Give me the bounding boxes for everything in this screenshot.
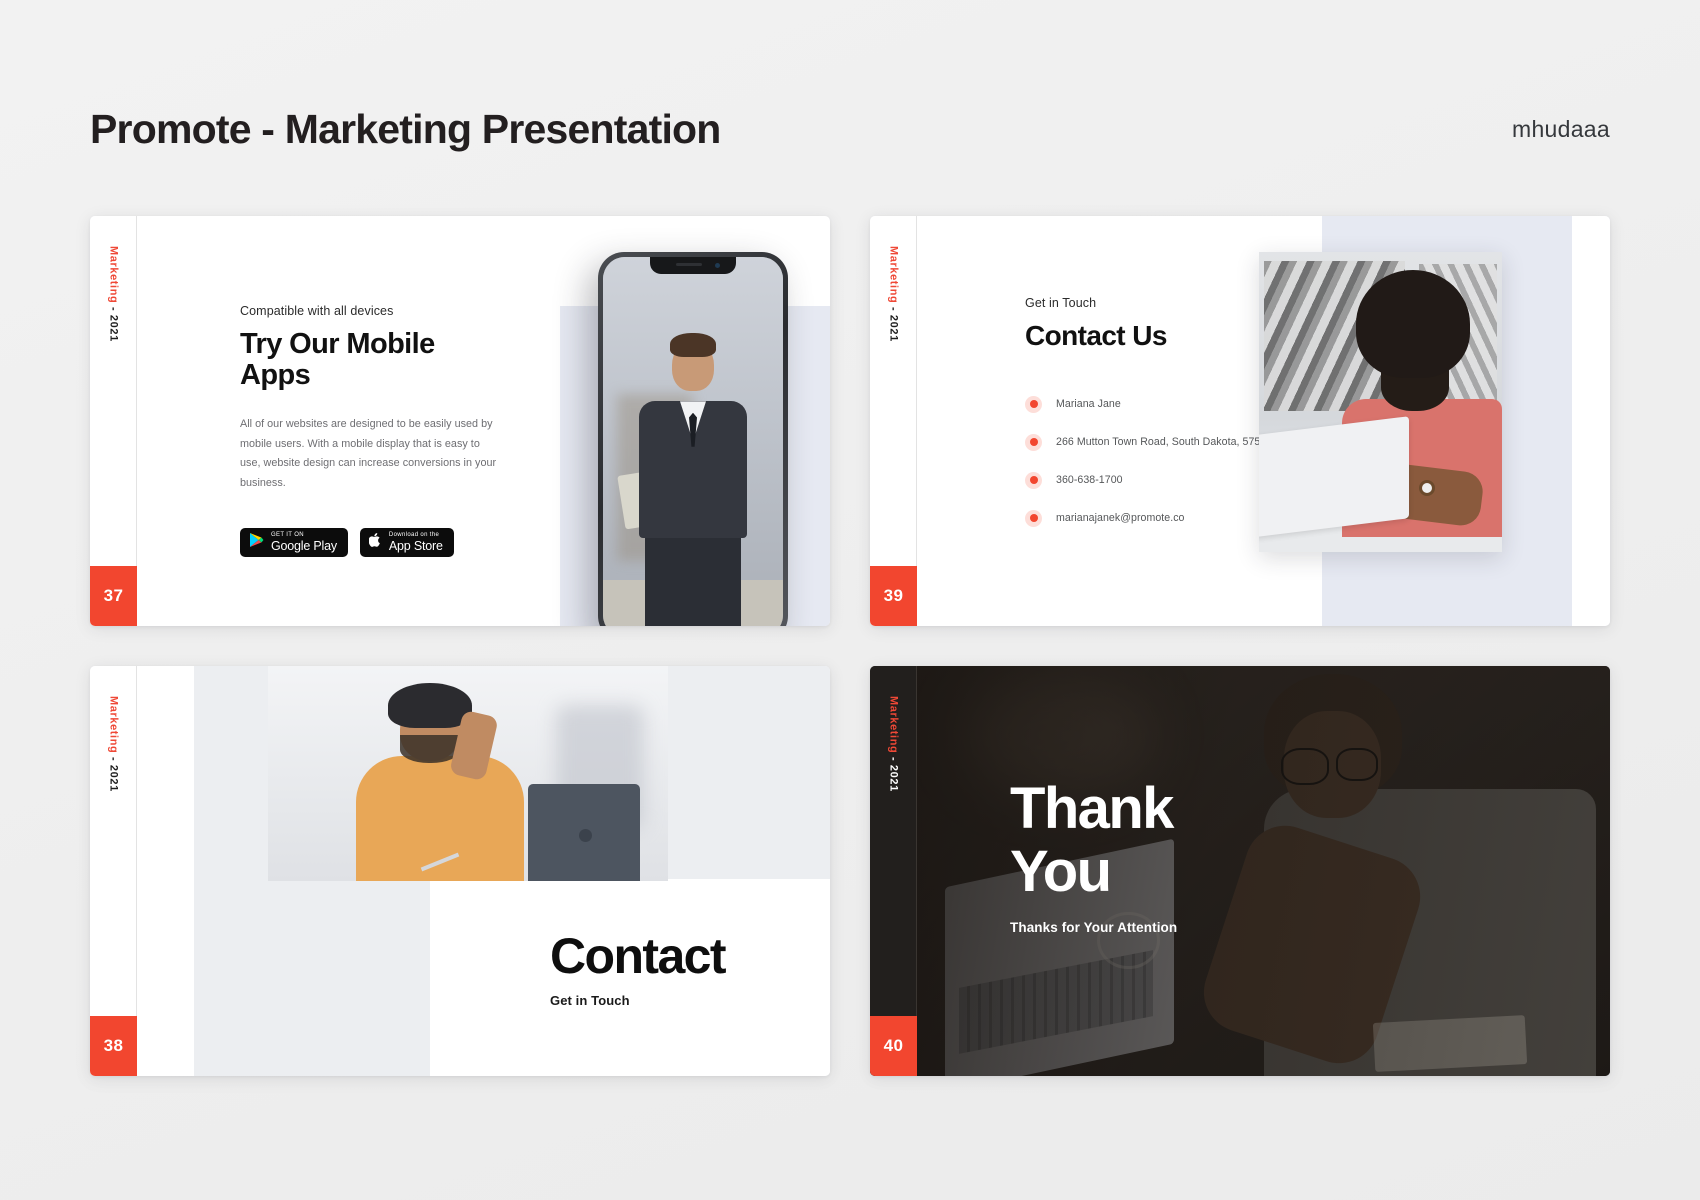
rail-brand-text: Marketing xyxy=(888,696,900,753)
rail-year-text: - 2021 xyxy=(108,303,120,341)
rail-year-text: - 2021 xyxy=(888,303,900,341)
slide37-phone-mockup xyxy=(598,252,788,626)
app-store-badge-text: Download on the App Store xyxy=(389,532,443,553)
slide39-side-rail: Marketing - 2021 39 xyxy=(870,216,917,626)
phone-speaker-icon xyxy=(676,263,702,266)
slide38-photo xyxy=(268,666,668,881)
page-header: Promote - Marketing Presentation mhudaaa xyxy=(90,96,1610,162)
slide38-page-number: 38 xyxy=(90,1016,137,1076)
slide37-body-text: All of our websites are designed to be e… xyxy=(240,415,500,494)
slide37-headline: Try Our Mobile Apps xyxy=(240,329,500,391)
slide39-photo xyxy=(1259,252,1502,552)
google-play-icon xyxy=(249,532,264,553)
slide37-page-number: 37 xyxy=(90,566,137,626)
slide40-title-line2: You xyxy=(1010,841,1177,904)
slide38-rail-label: Marketing - 2021 xyxy=(90,696,137,792)
slide37-side-rail: Marketing - 2021 37 xyxy=(90,216,137,626)
app-store-badge[interactable]: Download on the App Store xyxy=(360,528,454,557)
slide-thumbnail-39[interactable]: Marketing - 2021 39 Get in Touch Contact… xyxy=(870,216,1610,626)
author-name: mhudaaa xyxy=(1512,116,1610,143)
slide-thumbnail-40[interactable]: Marketing - 2021 40 Thank You Thanks for… xyxy=(870,666,1610,1076)
slide37-store-badges: GET IT ON Google Play Download on xyxy=(240,528,500,557)
slide37-rail-label: Marketing - 2021 xyxy=(90,246,137,342)
photo-person-hair xyxy=(1356,270,1470,378)
phone-photo-hair xyxy=(670,333,716,357)
slide-grid: Marketing - 2021 37 Compatible with all … xyxy=(90,216,1610,1076)
photo-person-beard xyxy=(400,735,460,763)
slide40-side-rail: Marketing - 2021 40 xyxy=(870,666,917,1076)
presentation-preview-page: Promote - Marketing Presentation mhudaaa… xyxy=(0,0,1700,1200)
contact-name-text: Mariana Jane xyxy=(1056,398,1121,410)
slide38-left-white-strip xyxy=(137,666,194,1076)
slide37-eyebrow: Compatible with all devices xyxy=(240,304,500,318)
slide40-page-number: 40 xyxy=(870,1016,917,1076)
rail-brand-text: Marketing xyxy=(108,696,120,753)
apple-icon xyxy=(369,532,382,553)
contact-phone-text: 360-638-1700 xyxy=(1056,474,1123,486)
contact-email-text: marianajanek@promote.co xyxy=(1056,512,1185,524)
slide38-title-block: Contact Get in Touch xyxy=(550,931,725,1008)
google-play-badge[interactable]: GET IT ON Google Play xyxy=(240,528,348,557)
slide40-rail-label: Marketing - 2021 xyxy=(870,696,917,792)
google-play-badge-top: GET IT ON xyxy=(271,532,337,538)
rail-brand-text: Marketing xyxy=(108,246,120,303)
rail-year-text: - 2021 xyxy=(108,753,120,791)
slide39-rail-label: Marketing - 2021 xyxy=(870,246,917,342)
slide-thumbnail-38[interactable]: Marketing - 2021 38 Contact Get in Touch xyxy=(90,666,830,1076)
phone-bullet-icon xyxy=(1025,472,1042,489)
phone-screen xyxy=(603,257,783,626)
google-play-badge-bottom: Google Play xyxy=(271,540,337,553)
phone-notch xyxy=(650,257,736,274)
slide39-page-number: 39 xyxy=(870,566,917,626)
google-play-badge-text: GET IT ON Google Play xyxy=(271,532,337,553)
slide40-subtitle: Thanks for Your Attention xyxy=(1010,920,1177,935)
app-store-badge-top: Download on the xyxy=(389,532,443,538)
photo-person-hair xyxy=(388,683,472,728)
email-bullet-icon xyxy=(1025,510,1042,527)
rail-year-text: - 2021 xyxy=(888,753,900,791)
phone-camera-icon xyxy=(715,263,720,268)
slide-thumbnail-37[interactable]: Marketing - 2021 37 Compatible with all … xyxy=(90,216,830,626)
slide38-side-rail: Marketing - 2021 38 xyxy=(90,666,137,1076)
slide38-title: Contact xyxy=(550,931,725,981)
photo-laptop xyxy=(1259,416,1410,538)
contact-address-text: 266 Mutton Town Road, South Dakota, 5755… xyxy=(1056,436,1272,448)
phone-photo-legs xyxy=(645,523,741,626)
rail-brand-text: Marketing xyxy=(888,246,900,303)
page-title: Promote - Marketing Presentation xyxy=(90,106,721,153)
slide38-subtitle: Get in Touch xyxy=(550,993,725,1008)
person-bullet-icon xyxy=(1025,396,1042,413)
slide39-right-white-strip xyxy=(1572,216,1610,626)
slide40-title-line1: Thank xyxy=(1010,778,1177,841)
slide37-text-block: Compatible with all devices Try Our Mobi… xyxy=(240,304,500,557)
location-bullet-icon xyxy=(1025,434,1042,451)
app-store-badge-bottom: App Store xyxy=(389,540,443,553)
slide40-title-block: Thank You Thanks for Your Attention xyxy=(1010,778,1177,935)
